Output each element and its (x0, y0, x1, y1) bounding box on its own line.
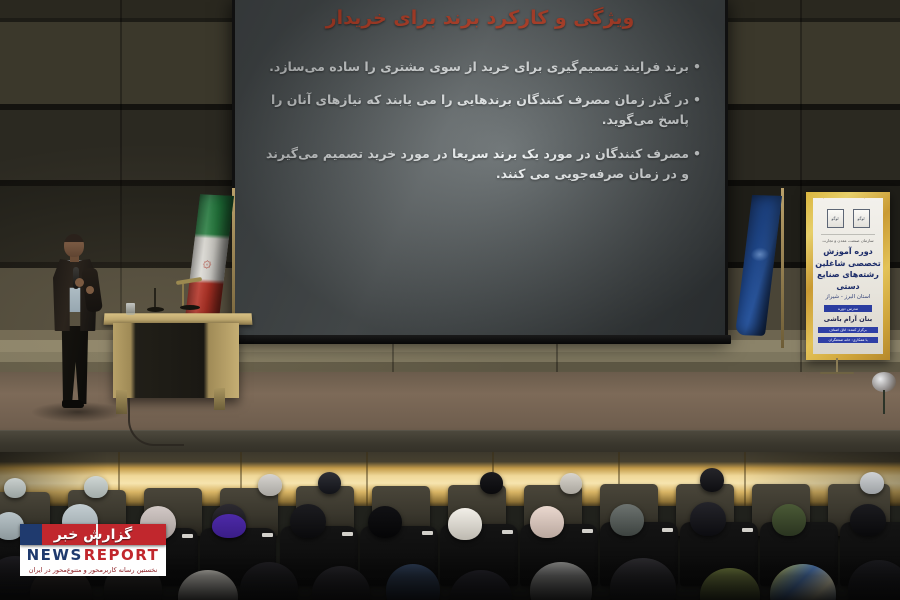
audience-head (850, 504, 886, 536)
blue-flag-emblem (750, 247, 770, 262)
audience-head (212, 514, 246, 538)
news-report-watermark: گزارش خبر NEWS REPORT نخستین رسانه کاربر… (20, 524, 166, 576)
slide-bullet-list: برند فرایند تصمیم‌گیری برای خرید از سوی … (261, 57, 699, 184)
presenter-head (64, 234, 84, 257)
audience-head (258, 474, 282, 496)
presenter-shoes (62, 400, 84, 408)
watermark-news-text: NEWS (27, 546, 83, 564)
banner-logo-row: لوگو لوگو (813, 209, 883, 228)
banner-bismillah-text: بسم الله الرحمن الرحیم (813, 198, 883, 199)
water-glass (126, 303, 135, 315)
table-microphone-stem (154, 288, 156, 309)
audience-head (368, 506, 402, 538)
floor-cable (128, 398, 184, 446)
slide-title: ویژگی و کارکرد برند برای خریدار (261, 7, 699, 31)
boom-microphone-arm (182, 284, 184, 307)
presenter-hand (86, 286, 94, 294)
audience-head (690, 502, 726, 536)
banner-speaker-name: بنان آرام باشی (813, 315, 883, 323)
presenter-legs (60, 326, 90, 404)
audience-head (700, 468, 724, 492)
screen-bottom-bar (229, 335, 731, 344)
banner-artwork: بسم الله الرحمن الرحیم لوگو لوگو سازمان … (813, 198, 883, 354)
banner-cohost-bar: با همکاری: خانه صنعتگران (818, 337, 878, 343)
boom-microphone-base (180, 305, 200, 310)
slide-bullet: مصرف کنندگان در مورد یک برند سریعا در مو… (261, 144, 699, 185)
banner-headline: دوره آموزش تخصصی شاغلین رشته‌های صنایع د… (813, 246, 883, 292)
banner-subtitle: سازمان صنعت، معدن و تجارت (813, 238, 883, 243)
audience-head (290, 504, 326, 538)
audience-head (84, 476, 108, 498)
seat-number-tag (582, 529, 593, 533)
audience-head (530, 506, 564, 538)
projection-screen: ویژگی و کارکرد برند برای خریدار برند فرا… (232, 0, 728, 338)
seat-number-tag (502, 530, 513, 534)
flower-arrangement (868, 368, 900, 418)
audience-head (860, 472, 884, 494)
watermark-top-band: گزارش خبر (20, 524, 166, 545)
auditorium-photo: ویژگی و کارکرد برند برای خریدار برند فرا… (0, 0, 900, 600)
audience-head (772, 504, 806, 536)
flower-stem (883, 390, 885, 414)
flower-blooms (872, 372, 896, 392)
seat-number-tag (182, 534, 193, 538)
seat-number-tag (742, 528, 753, 532)
banner-location: استان البرز - شیراز (813, 294, 883, 300)
organization-logo-icon: لوگو (827, 209, 844, 228)
slide-bullet: برند فرایند تصمیم‌گیری برای خرید از سوی … (261, 57, 699, 77)
presenter (48, 234, 110, 416)
watermark-report-text: REPORT (84, 546, 160, 564)
seat-number-tag (342, 532, 353, 536)
blue-flag-pole (781, 188, 784, 348)
seat-number-tag (262, 533, 273, 537)
presenter-hand (75, 278, 84, 287)
audience-head (448, 508, 482, 540)
table-microphone-base (147, 307, 164, 312)
watermark-tagline: نخستین رسانه کاربرمحور و متنوع‌محور در ا… (20, 564, 166, 576)
banner-organizer-bar: برگزار کننده: اتاق اصناف (818, 327, 878, 333)
audience-head (560, 473, 582, 494)
banner-divider (821, 234, 875, 235)
organization-logo-icon: لوگو (853, 209, 870, 228)
audience-head (480, 472, 503, 494)
audience-head (318, 472, 341, 494)
table-leg (214, 388, 225, 410)
banner-stand-feet (820, 372, 854, 374)
speaker-table-body (113, 323, 239, 398)
slide-bullet: در گذر زمان مصرف کنندگان برندهایی را می … (261, 90, 699, 131)
event-rollup-banner: بسم الله الرحمن الرحیم لوگو لوگو سازمان … (806, 192, 890, 360)
audience-head (4, 478, 26, 498)
watermark-persian-name: گزارش خبر (20, 524, 166, 545)
seat-number-tag (422, 531, 433, 535)
banner-chip-label: مدرس دوره (824, 305, 872, 312)
audience-head (610, 504, 644, 536)
slide-content: ویژگی و کارکرد برند برای خریدار برند فرا… (235, 0, 725, 335)
seat-number-tag (662, 528, 673, 532)
watermark-latin-name: NEWS REPORT (20, 545, 166, 564)
